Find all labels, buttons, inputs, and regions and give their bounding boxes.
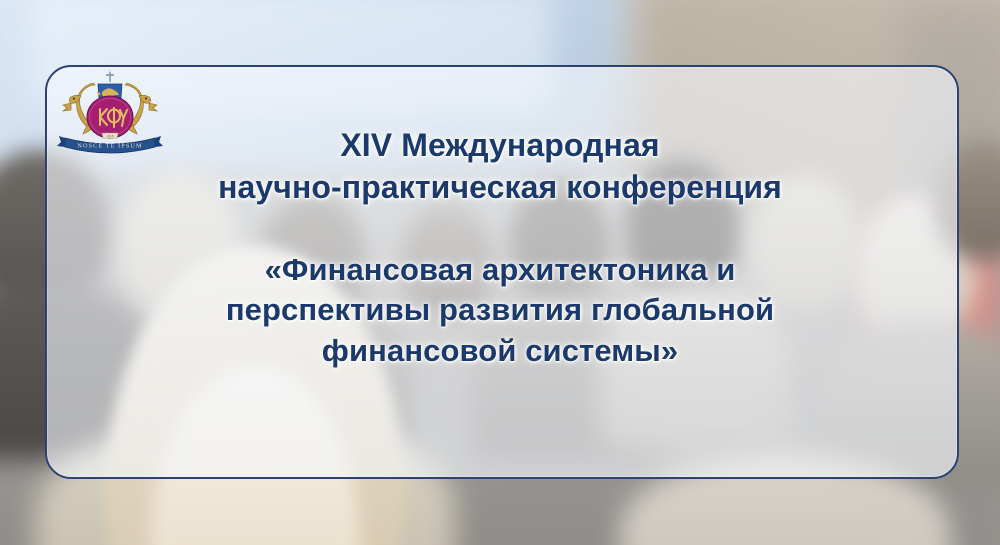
svg-text:1918: 1918 — [107, 134, 114, 138]
emblem-motto-text: NOSCE TE IPSUM — [77, 143, 142, 150]
conference-announcement-poster: 1918 NOSCE TE IPSUM XIV Международная на… — [0, 0, 1000, 545]
content-frame — [45, 65, 959, 479]
university-coat-of-arms-icon: 1918 NOSCE TE IPSUM — [55, 68, 165, 160]
